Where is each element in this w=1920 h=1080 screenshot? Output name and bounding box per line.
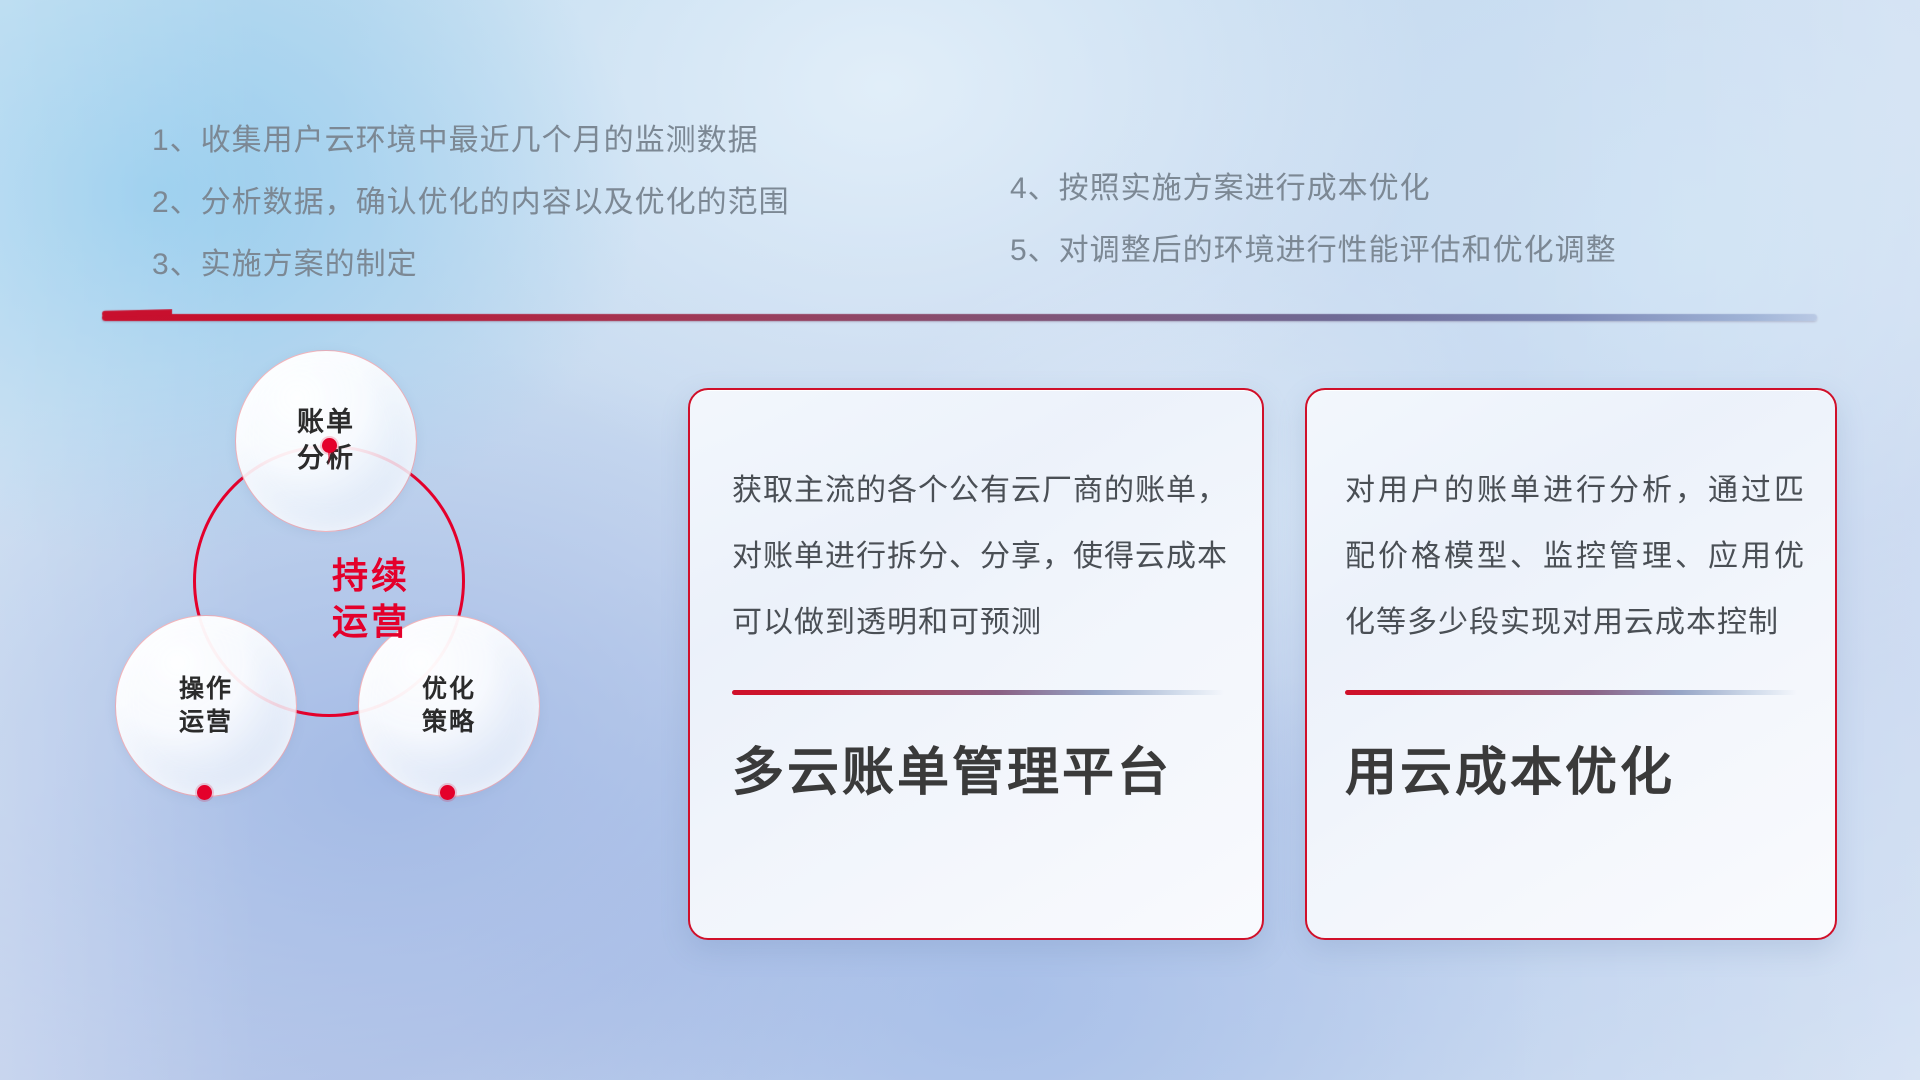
bubble-operation-management-line1: 操作 bbox=[179, 673, 233, 706]
node-dot-left-icon bbox=[197, 785, 212, 800]
bubble-operation-management-line2: 运营 bbox=[179, 706, 233, 739]
node-dot-right-icon bbox=[440, 785, 455, 800]
section-divider bbox=[102, 314, 1817, 321]
card-2-body-text: 对用户的账单进行分析，通过匹配价格模型、监控管理、应用优化等多少段实现对用云成本… bbox=[1345, 458, 1805, 656]
venn-center-line2: 运营 bbox=[332, 599, 410, 645]
step-item-1: 1、收集用户云环境中最近几个月的监测数据 bbox=[152, 110, 790, 172]
card-2-accent-rule bbox=[1345, 690, 1797, 695]
steps-right-column: 4、按照实施方案进行成本优化 5、对调整后的环境进行性能评估和优化调整 bbox=[1010, 158, 1617, 282]
step-item-3: 3、实施方案的制定 bbox=[152, 234, 790, 296]
node-dot-top-icon bbox=[322, 438, 337, 453]
venn-diagram: 账单 分析 操作 运营 优化 策略 持续 运营 bbox=[95, 350, 615, 950]
venn-center-label: 持续 运营 bbox=[235, 463, 507, 735]
slide-canvas: 1、收集用户云环境中最近几个月的监测数据 2、分析数据，确认优化的内容以及优化的… bbox=[0, 0, 1920, 1080]
bubble-bill-analysis-line1: 账单 bbox=[297, 405, 355, 441]
card-cloud-cost-optimization[interactable]: 对用户的账单进行分析，通过匹配价格模型、监控管理、应用优化等多少段实现对用云成本… bbox=[1305, 388, 1837, 940]
venn-center-line1: 持续 bbox=[332, 553, 410, 599]
steps-left-column: 1、收集用户云环境中最近几个月的监测数据 2、分析数据，确认优化的内容以及优化的… bbox=[152, 110, 790, 296]
step-item-4: 4、按照实施方案进行成本优化 bbox=[1010, 158, 1617, 220]
step-item-2: 2、分析数据，确认优化的内容以及优化的范围 bbox=[152, 172, 790, 234]
card-multi-cloud-billing-platform[interactable]: 获取主流的各个公有云厂商的账单，对账单进行拆分、分享，使得云成本可以做到透明和可… bbox=[688, 388, 1264, 940]
card-1-accent-rule bbox=[732, 690, 1224, 695]
card-1-body-text: 获取主流的各个公有云厂商的账单，对账单进行拆分、分享，使得云成本可以做到透明和可… bbox=[732, 458, 1228, 656]
card-2-title: 用云成本优化 bbox=[1345, 730, 1675, 805]
step-item-5: 5、对调整后的环境进行性能评估和优化调整 bbox=[1010, 220, 1617, 282]
card-1-title: 多云账单管理平台 bbox=[732, 730, 1172, 805]
